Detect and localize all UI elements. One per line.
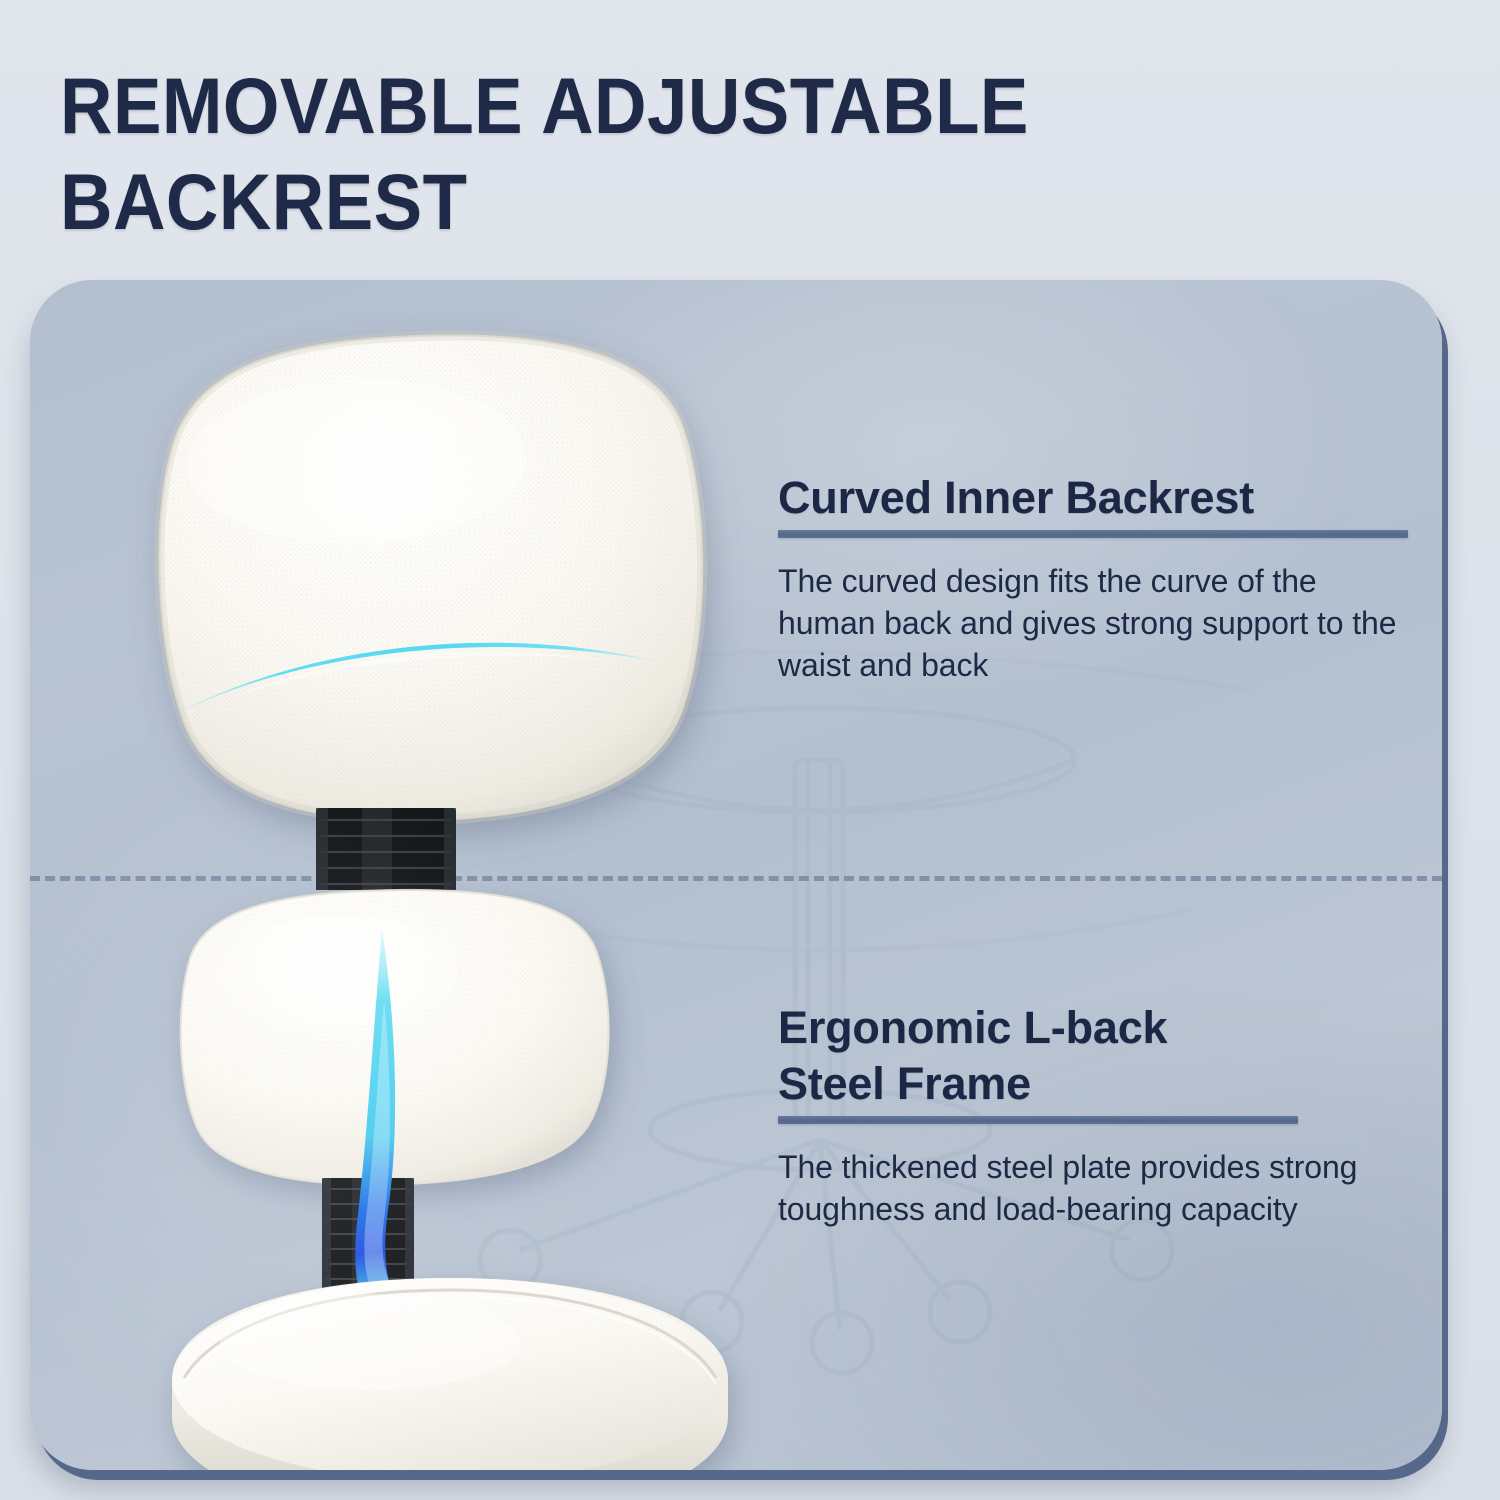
feature-2-body: The thickened steel plate provides stron…	[778, 1146, 1418, 1230]
feature-1-underline	[778, 530, 1408, 538]
page-title: REMOVABLE ADJUSTABLE BACKREST	[60, 58, 1360, 250]
feature-2-underline	[778, 1116, 1298, 1124]
feature-block-curved-inner-backrest: Curved Inner Backrest The curved design …	[778, 470, 1418, 686]
section-divider	[30, 876, 1442, 881]
cyan-blue-l-curve-accent	[355, 930, 666, 1377]
feature-1-body: The curved design fits the curve of the …	[778, 560, 1418, 686]
feature-block-ergonomic-l-back-steel-frame: Ergonomic L-back Steel Frame The thicken…	[778, 1000, 1418, 1230]
feature-2-heading-line-1: Ergonomic L-back	[778, 1000, 1418, 1056]
page-title-line-1: REMOVABLE ADJUSTABLE	[60, 58, 1256, 154]
feature-1-heading: Curved Inner Backrest	[778, 470, 1418, 526]
feature-2-heading-line-2: Steel Frame	[778, 1056, 1418, 1112]
cyan-curve-accent	[168, 643, 660, 718]
ribbed-steel-spine	[322, 1178, 414, 1344]
detached-backrest-cushion	[60, 310, 780, 890]
backrest-with-seat-assembly	[150, 880, 870, 1470]
product-photo-panel	[30, 280, 1442, 1470]
page-title-line-2: BACKREST	[60, 154, 1256, 250]
